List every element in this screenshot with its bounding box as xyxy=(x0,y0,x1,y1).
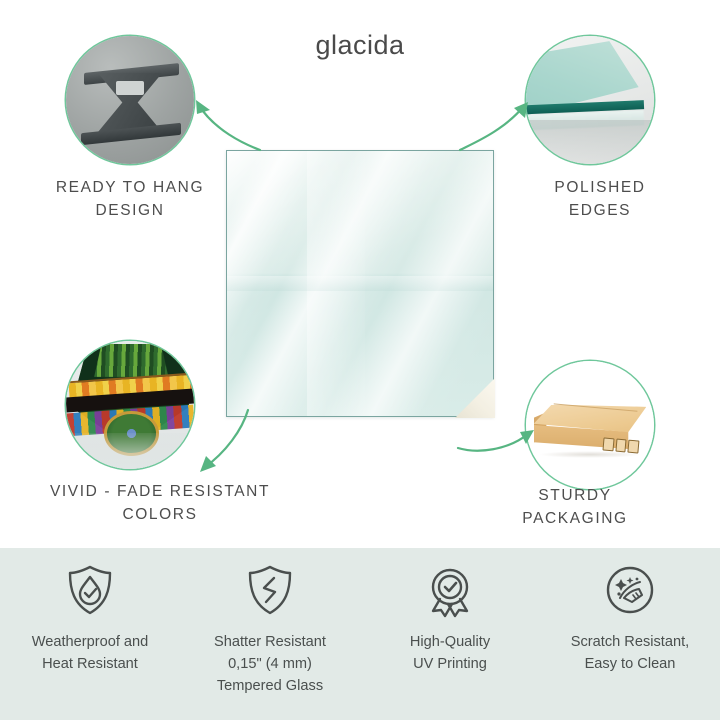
cleaning-sparkle-icon xyxy=(602,562,658,618)
infographic-page: glacida xyxy=(0,0,720,720)
benefit-shatter-resistant: Shatter Resistant 0,15" (4 mm) Tempered … xyxy=(180,548,360,720)
caption-line-2: PACKAGING xyxy=(450,507,700,530)
benefit-line-2: Easy to Clean xyxy=(571,654,689,676)
feature-image-polished-edges xyxy=(526,36,654,164)
caption-line-1: VIVID - FADE RESISTANT xyxy=(20,480,300,503)
caption-polished-edges: POLISHED EDGES xyxy=(480,176,720,223)
shield-bolt-icon xyxy=(242,562,298,618)
glass-panel xyxy=(226,150,494,417)
caption-ready-to-hang: READY TO HANG DESIGN xyxy=(10,176,250,223)
award-badge-check-icon xyxy=(422,562,478,618)
benefit-line-3: Tempered Glass xyxy=(214,676,326,698)
caption-vivid-colors: VIVID - FADE RESISTANT COLORS xyxy=(20,480,300,527)
colorful-artwork-icon xyxy=(66,341,194,469)
shield-droplet-check-icon xyxy=(62,562,118,618)
benefit-label: Weatherproof and Heat Resistant xyxy=(32,632,149,676)
hanging-bracket-icon xyxy=(66,36,194,164)
caption-line-1: POLISHED xyxy=(480,176,720,199)
benefit-label: High-Quality UV Printing xyxy=(410,632,490,676)
glass-horizontal-highlight xyxy=(227,276,493,292)
benefit-line-1: Shatter Resistant xyxy=(214,632,326,654)
benefit-line-1: Scratch Resistant, xyxy=(571,632,689,654)
benefit-line-2: Heat Resistant xyxy=(32,654,149,676)
cardboard-box-icon xyxy=(526,361,654,489)
benefit-label: Scratch Resistant, Easy to Clean xyxy=(571,632,689,676)
feature-image-ready-to-hang xyxy=(66,36,194,164)
glass-edge-icon xyxy=(526,36,654,164)
benefit-line-2: 0,15" (4 mm) xyxy=(214,654,326,676)
benefit-line-1: High-Quality xyxy=(410,632,490,654)
caption-sturdy-packaging: STURDY PACKAGING xyxy=(450,484,700,531)
caption-line-2: COLORS xyxy=(20,503,300,526)
feature-image-vivid-colors xyxy=(66,341,194,469)
arrow-to-ready-to-hang-icon xyxy=(184,92,264,154)
caption-line-1: STURDY xyxy=(450,484,700,507)
benefit-weatherproof: Weatherproof and Heat Resistant xyxy=(0,548,180,720)
feature-image-sturdy-packaging xyxy=(526,361,654,489)
caption-line-2: DESIGN xyxy=(10,199,250,222)
benefit-uv-printing: High-Quality UV Printing xyxy=(360,548,540,720)
benefit-scratch-resistant: Scratch Resistant, Easy to Clean xyxy=(540,548,720,720)
glass-surface xyxy=(226,150,494,417)
caption-line-1: READY TO HANG xyxy=(10,176,250,199)
arrow-to-vivid-colors-icon xyxy=(186,408,266,480)
caption-line-2: EDGES xyxy=(480,199,720,222)
benefit-label: Shatter Resistant 0,15" (4 mm) Tempered … xyxy=(214,632,326,698)
benefit-line-2: UV Printing xyxy=(410,654,490,676)
benefit-line-1: Weatherproof and xyxy=(32,632,149,654)
benefits-bar: Weatherproof and Heat Resistant Shatter … xyxy=(0,548,720,720)
glass-vertical-highlight xyxy=(307,151,366,416)
